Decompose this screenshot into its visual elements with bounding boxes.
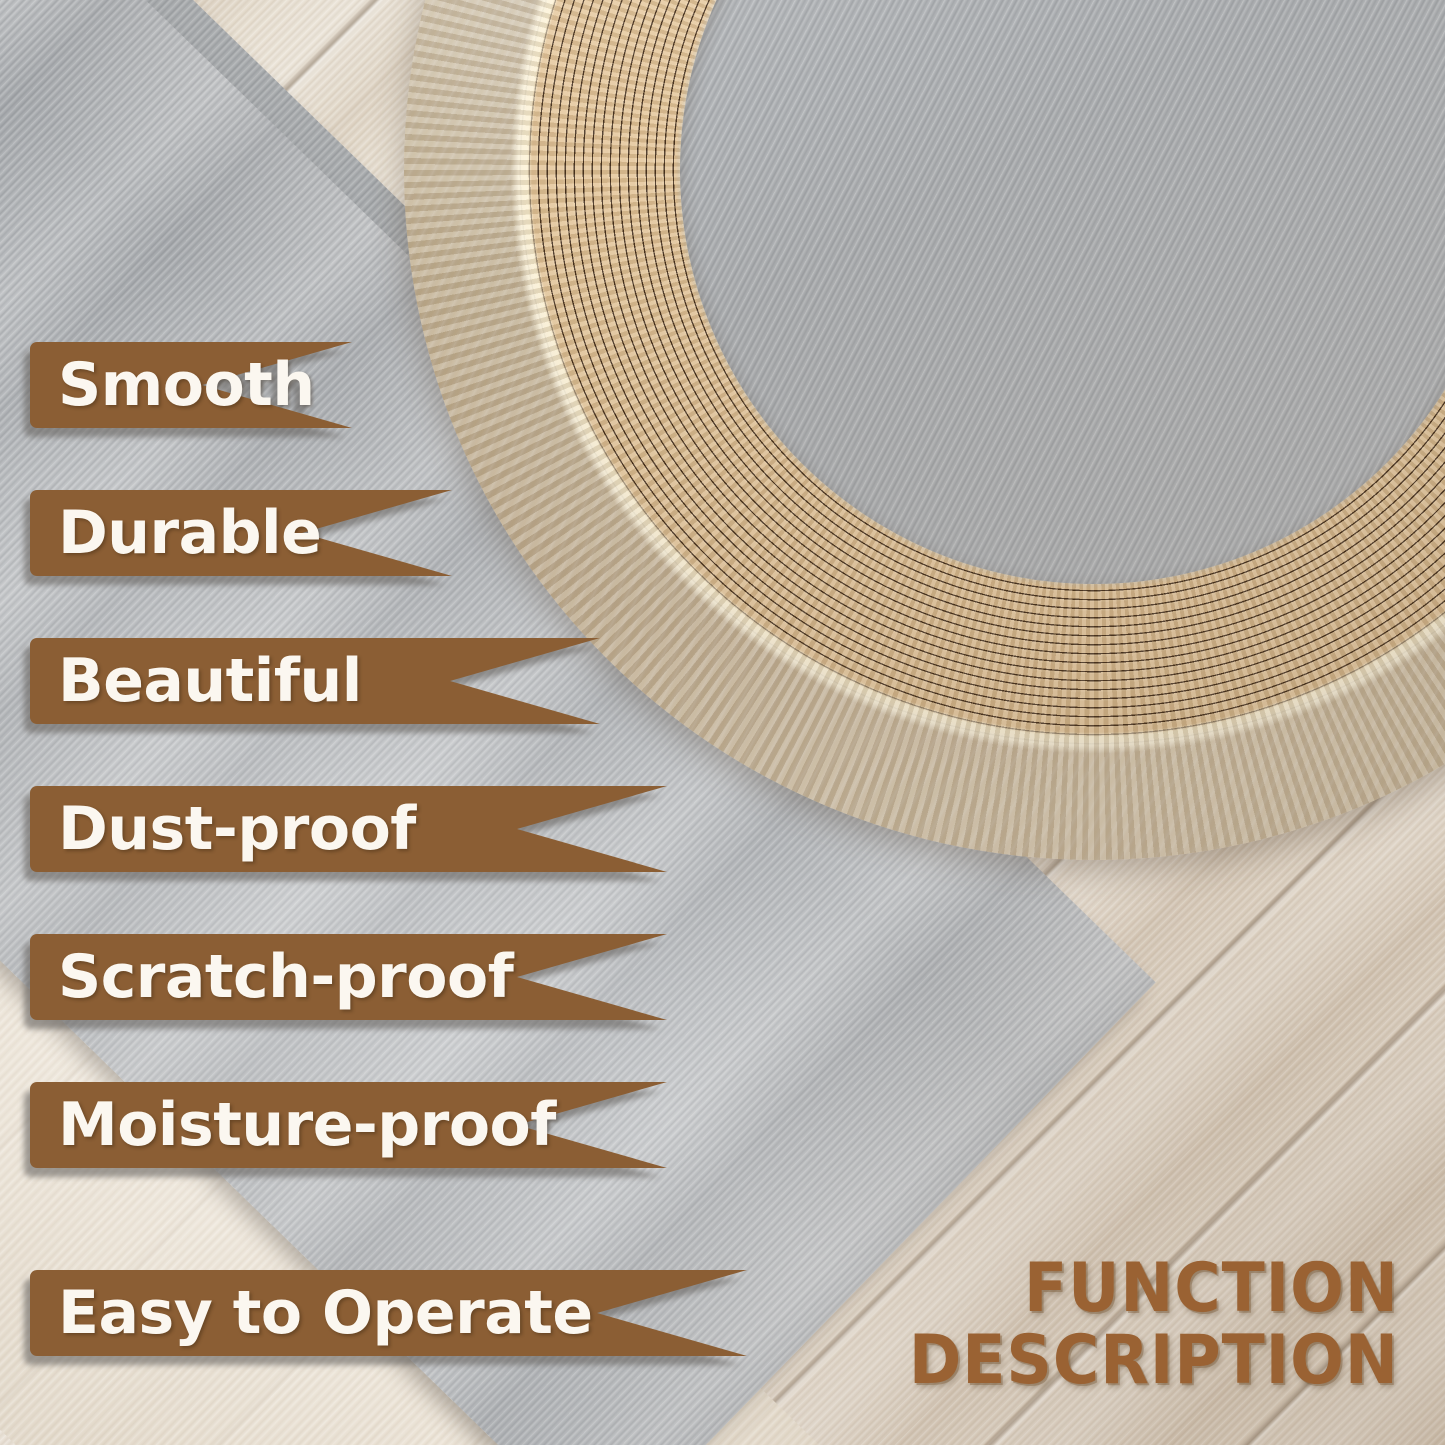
heading-line-2: DESCRIPTION xyxy=(909,1325,1399,1397)
feature-banner: Scratch-proof xyxy=(30,934,667,1020)
feature-banner-label: Moisture-proof xyxy=(58,1090,556,1160)
feature-banner: Dust-proof xyxy=(30,786,667,872)
feature-banner-label: Scratch-proof xyxy=(58,942,513,1012)
feature-banner-label: Easy to Operate xyxy=(58,1278,593,1348)
function-description-heading: FUNCTION DESCRIPTION xyxy=(909,1253,1399,1397)
feature-banner: Moisture-proof xyxy=(30,1082,667,1168)
feature-banner-label: Durable xyxy=(58,498,321,568)
feature-banner: Easy to Operate xyxy=(30,1270,747,1356)
feature-banner: Durable xyxy=(30,490,452,576)
feature-banner-label: Smooth xyxy=(58,350,315,420)
feature-banner: Beautiful xyxy=(30,638,600,724)
heading-line-1: FUNCTION xyxy=(909,1253,1399,1325)
feature-banner-label: Beautiful xyxy=(58,646,362,716)
feature-banner: Smooth xyxy=(30,342,352,428)
product-infographic: SmoothDurableBeautifulDust-proofScratch-… xyxy=(0,0,1445,1445)
feature-banner-label: Dust-proof xyxy=(58,794,416,864)
